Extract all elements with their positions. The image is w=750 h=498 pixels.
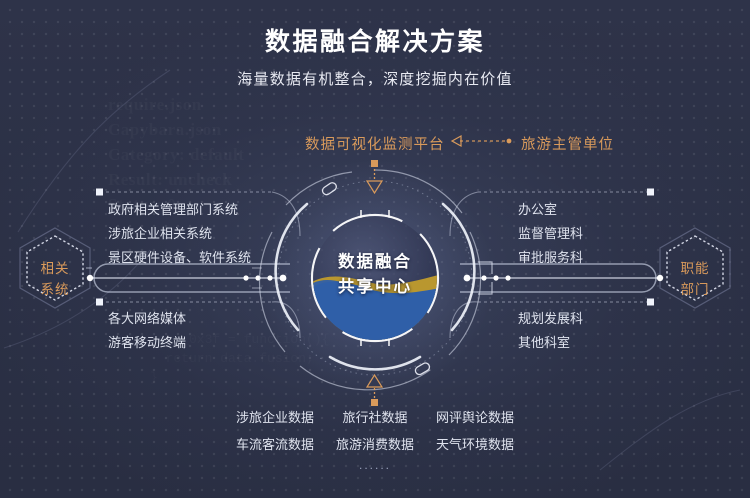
page-title: 数据融合解决方案 <box>0 22 750 58</box>
top-flow-arrow <box>452 136 511 146</box>
branch-node <box>647 299 654 306</box>
page-subtitle: 海量数据有机整合，深度挖掘内在价值 <box>0 68 750 89</box>
data-source-item[interactable]: 网评舆论数据 <box>436 407 514 428</box>
branch-node <box>96 189 103 196</box>
core-label-line1: 数据融合 <box>305 250 445 275</box>
list-right-departments-bottom: 规划发展科 其他科室 <box>518 307 583 355</box>
list-item[interactable]: 规划发展科 <box>518 307 583 331</box>
list-item[interactable]: 涉旅企业相关系统 <box>108 222 251 246</box>
flow-dot <box>243 275 248 280</box>
label-tourism-authority[interactable]: 旅游主管单位 <box>521 133 614 154</box>
list-item[interactable]: 各大网络媒体 <box>108 307 186 331</box>
list-right-departments-top: 办公室 监督管理科 审批服务科 <box>518 198 583 270</box>
hexagon-right-caption[interactable]: 职能 部门 <box>658 258 732 300</box>
core-label-line2: 共享中心 <box>305 275 445 300</box>
list-left-systems-bottom: 各大网络媒体 游客移动终端 <box>108 307 186 355</box>
branch-node <box>647 189 654 196</box>
data-source-item[interactable]: 旅游消费数据 <box>336 434 414 455</box>
data-source-item[interactable]: 车流客流数据 <box>236 434 314 455</box>
list-item[interactable]: 政府相关管理部门系统 <box>108 198 251 222</box>
hexagon-right-line1: 职能 <box>658 258 732 279</box>
data-source-item[interactable]: 涉旅企业数据 <box>236 407 314 428</box>
hexagon-right-line2: 部门 <box>658 279 732 300</box>
flow-dot-head <box>280 275 287 282</box>
hexagon-left-caption[interactable]: 相关 系统 <box>18 258 92 300</box>
data-source-item[interactable]: 天气环境数据 <box>436 434 514 455</box>
label-visualization-platform[interactable]: 数据可视化监测平台 <box>305 133 445 154</box>
arrow-left-icon <box>452 136 461 146</box>
list-item[interactable]: 办公室 <box>518 198 583 222</box>
flow-dot <box>267 275 272 280</box>
top-flow-endpoint-dot <box>507 139 512 144</box>
data-source-item[interactable]: 旅行社数据 <box>342 407 407 428</box>
hexagon-left-line1: 相关 <box>18 258 92 279</box>
list-left-systems-top: 政府相关管理部门系统 涉旅企业相关系统 景区硬件设备、软件系统 <box>108 198 251 270</box>
list-item[interactable]: 游客移动终端 <box>108 331 186 355</box>
infographic-canvas: require.json Capybara.json Category: def… <box>0 0 750 498</box>
list-item[interactable]: 监督管理科 <box>518 222 583 246</box>
flow-dot-head <box>464 275 471 282</box>
bottom-data-sources: 涉旅企业数据 旅行社数据 网评舆论数据 车流客流数据 旅游消费数据 天气环境数据 <box>225 407 525 455</box>
list-item[interactable]: 其他科室 <box>518 331 583 355</box>
list-item[interactable]: 景区硬件设备、软件系统 <box>108 246 251 270</box>
branch-node <box>96 299 103 306</box>
list-item[interactable]: 审批服务科 <box>518 246 583 270</box>
arrow-bottom-square <box>371 399 378 406</box>
arrow-top-square <box>371 160 378 167</box>
core-sphere-label: 数据融合 共享中心 <box>305 250 445 300</box>
flow-dot <box>481 275 486 280</box>
bottom-data-ellipsis: ...... <box>0 458 750 472</box>
hexagon-left-line2: 系统 <box>18 279 92 300</box>
flow-dot <box>493 275 498 280</box>
flow-dot <box>505 275 510 280</box>
